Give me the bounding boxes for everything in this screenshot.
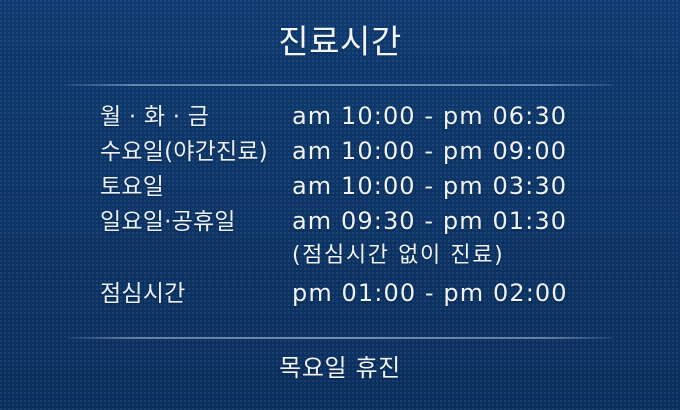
row-label: 점심시간 <box>100 278 292 310</box>
row-time: am 10:00 - pm 03:30 <box>292 170 600 202</box>
divider-top <box>68 84 612 86</box>
row-label: 토요일 <box>100 171 292 203</box>
row-label: 일요일·공휴일 <box>100 206 292 238</box>
row-label: 월 · 화 · 금 <box>100 101 292 133</box>
table-row: 수요일(야간진료) am 10:00 - pm 09:00 <box>100 135 600 170</box>
row-label: 수요일(야간진료) <box>100 136 292 168</box>
table-row: 토요일 am 10:00 - pm 03:30 <box>100 170 600 205</box>
row-time: am 10:00 - pm 09:00 <box>292 135 600 167</box>
clinic-hours-sign: 진료시간 월 · 화 · 금 am 10:00 - pm 06:30 수요일(야… <box>0 0 680 410</box>
table-row: 점심시간 pm 01:00 - pm 02:00 <box>100 277 600 312</box>
table-row: 월 · 화 · 금 am 10:00 - pm 06:30 <box>100 100 600 135</box>
table-row: 일요일·공휴일 am 09:30 - pm 01:30 <box>100 205 600 240</box>
hours-table: 월 · 화 · 금 am 10:00 - pm 06:30 수요일(야간진료) … <box>100 100 600 312</box>
divider-bottom <box>68 337 612 339</box>
row-time: am 09:30 - pm 01:30 <box>292 205 600 237</box>
page-title: 진료시간 <box>0 22 680 62</box>
table-row-note: (점심시간 없이 진료) <box>100 240 600 275</box>
row-note: (점심시간 없이 진료) <box>292 240 600 272</box>
closed-day-notice: 목요일 휴진 <box>0 352 680 384</box>
row-time: am 10:00 - pm 06:30 <box>292 100 600 132</box>
row-time: pm 01:00 - pm 02:00 <box>292 277 600 309</box>
